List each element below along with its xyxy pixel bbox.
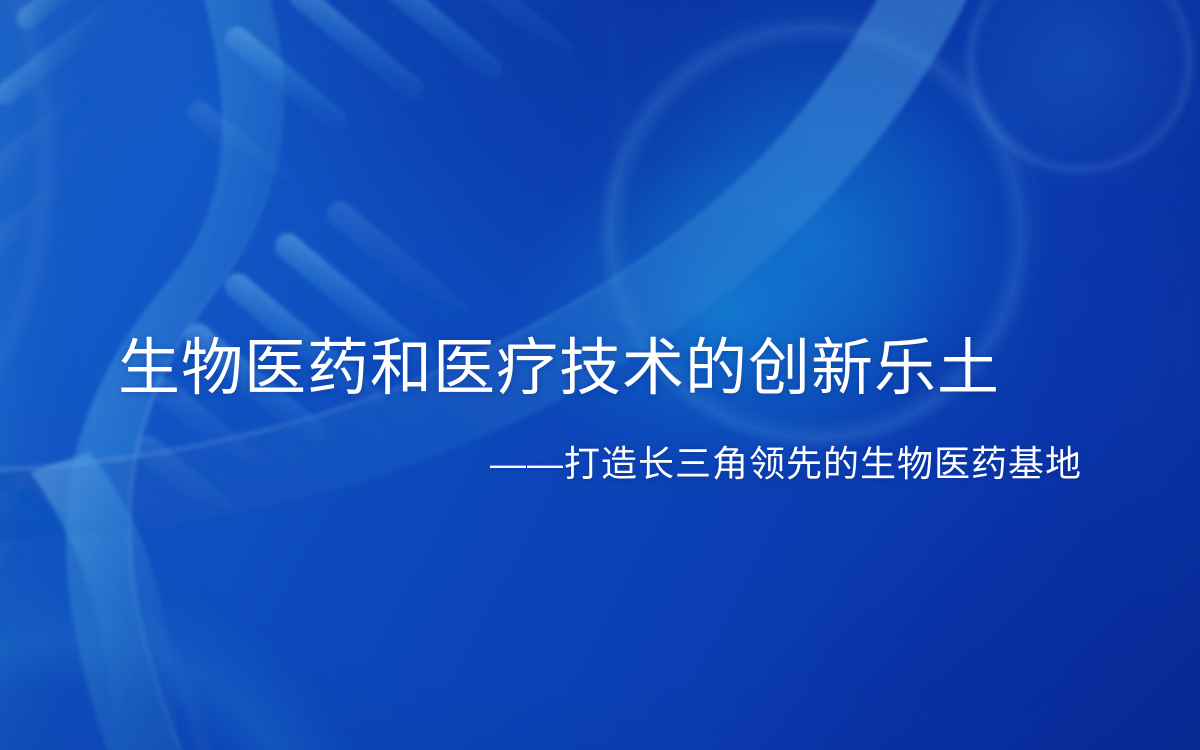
page-subtitle: ——打造长三角领先的生物医药基地 [118, 440, 1082, 488]
title-text-block: 生物医药和医疗技术的创新乐土 ——打造长三角领先的生物医药基地 [0, 0, 1200, 750]
page-title: 生物医药和医疗技术的创新乐土 [118, 330, 1082, 408]
presentation-title-slide: 生物医药和医疗技术的创新乐土 ——打造长三角领先的生物医药基地 [0, 0, 1200, 750]
